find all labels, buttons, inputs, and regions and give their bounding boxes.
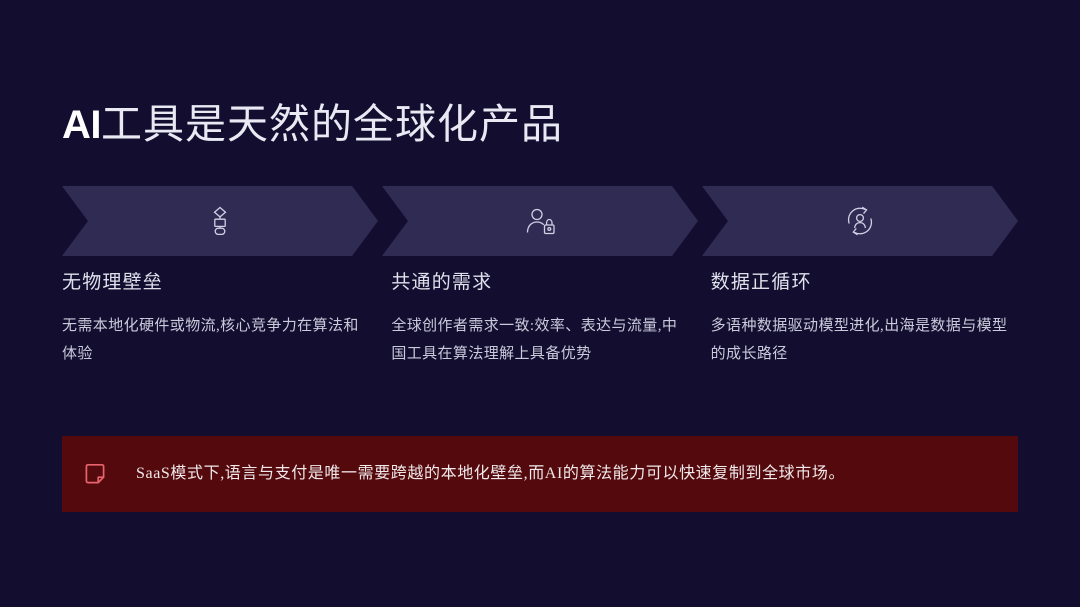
user-cycle-icon [843,204,877,238]
pillar-body-2: 全球创作者需求一致:效率、表达与流量,中国工具在算法理解上具备优势 [391,313,688,369]
pillar-chevron-3 [702,186,1018,256]
sticky-note-icon [84,463,106,485]
pillar-body-1: 无需本地化硬件或物流,核心竞争力在算法和体验 [62,313,359,369]
node-flow-icon [203,204,237,238]
pillar-chevron-1 [62,186,378,256]
page-title-rest: 工具是天然的全球化产品 [101,90,563,150]
pillar-body-3: 多语种数据驱动模型进化,出海是数据与模型的成长路径 [711,313,1008,369]
page-title-prefix: AI [62,103,101,148]
slide-canvas: AI 工具是天然的全球化产品 [0,0,1080,607]
user-lock-icon [523,204,557,238]
pillar-column-1: 无物理壁垒 无需本地化硬件或物流,核心竞争力在算法和体验 [62,272,391,368]
pillar-title-2: 共通的需求 [391,272,688,295]
callout-banner: SaaS模式下,语言与支付是唯一需要跨越的本地化壁垒,而AI的算法能力可以快速复… [62,436,1018,512]
pillar-chevron-band [62,186,1018,256]
callout-text: SaaS模式下,语言与支付是唯一需要跨越的本地化壁垒,而AI的算法能力可以快速复… [136,463,845,485]
pillar-column-3: 数据正循环 多语种数据驱动模型进化,出海是数据与模型的成长路径 [711,272,1018,368]
pillar-title-1: 无物理壁垒 [62,272,359,295]
pillar-chevron-2 [382,186,698,256]
pillar-columns: 无物理壁垒 无需本地化硬件或物流,核心竞争力在算法和体验 共通的需求 全球创作者… [62,272,1018,368]
pillar-title-3: 数据正循环 [711,272,1008,295]
pillar-column-2: 共通的需求 全球创作者需求一致:效率、表达与流量,中国工具在算法理解上具备优势 [391,272,710,368]
page-title: AI 工具是天然的全球化产品 [62,90,563,150]
